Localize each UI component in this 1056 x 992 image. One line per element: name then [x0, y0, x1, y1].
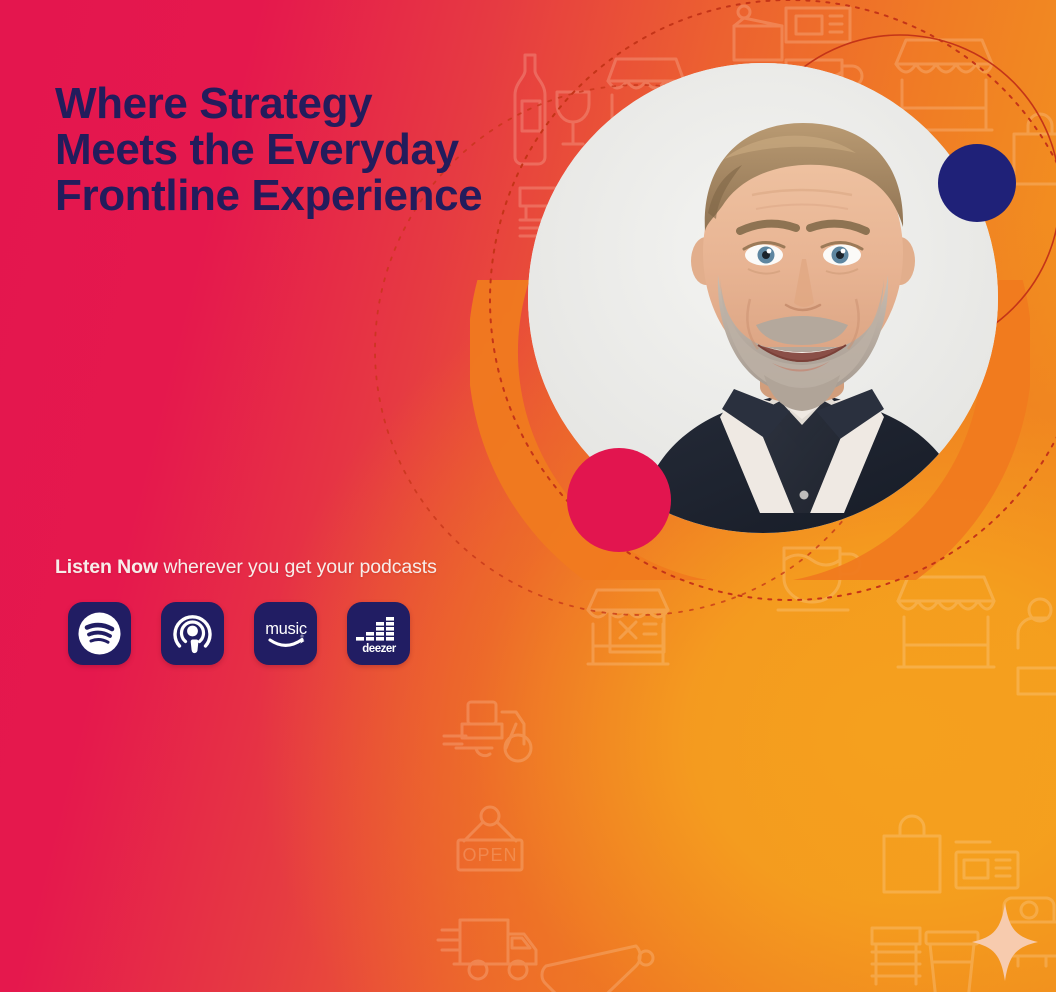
deezer-link[interactable]: deezer — [347, 602, 410, 665]
headline-line-1: Where Strategy — [55, 81, 615, 127]
listen-now-subtext: wherever you get your podcasts — [158, 556, 437, 578]
spotify-icon — [77, 611, 122, 656]
podcast-platform-links: music ® — [68, 602, 410, 665]
pink-accent-circle — [567, 448, 671, 552]
listen-now-caption: Listen Now wherever you get your podcast… — [55, 556, 437, 579]
apple-podcasts-icon — [170, 611, 215, 656]
listen-now-label: Listen Now — [55, 556, 158, 578]
page-title: Where Strategy Meets the Everyday Frontl… — [55, 81, 615, 219]
spotify-link[interactable] — [68, 602, 131, 665]
deezer-wordmark: deezer — [362, 643, 396, 655]
headline-line-3: Frontline Experience — [55, 173, 615, 219]
podcast-promo-poster: OPEN — [0, 0, 1056, 992]
amazon-music-link[interactable]: music ® — [254, 602, 317, 665]
navy-accent-circle — [938, 144, 1016, 222]
amazon-music-icon: music ® — [261, 614, 311, 654]
deezer-icon: deezer — [355, 613, 403, 655]
apple-podcasts-link[interactable] — [161, 602, 224, 665]
four-point-sparkle-icon — [972, 903, 1038, 981]
headline-line-2: Meets the Everyday — [55, 127, 615, 173]
